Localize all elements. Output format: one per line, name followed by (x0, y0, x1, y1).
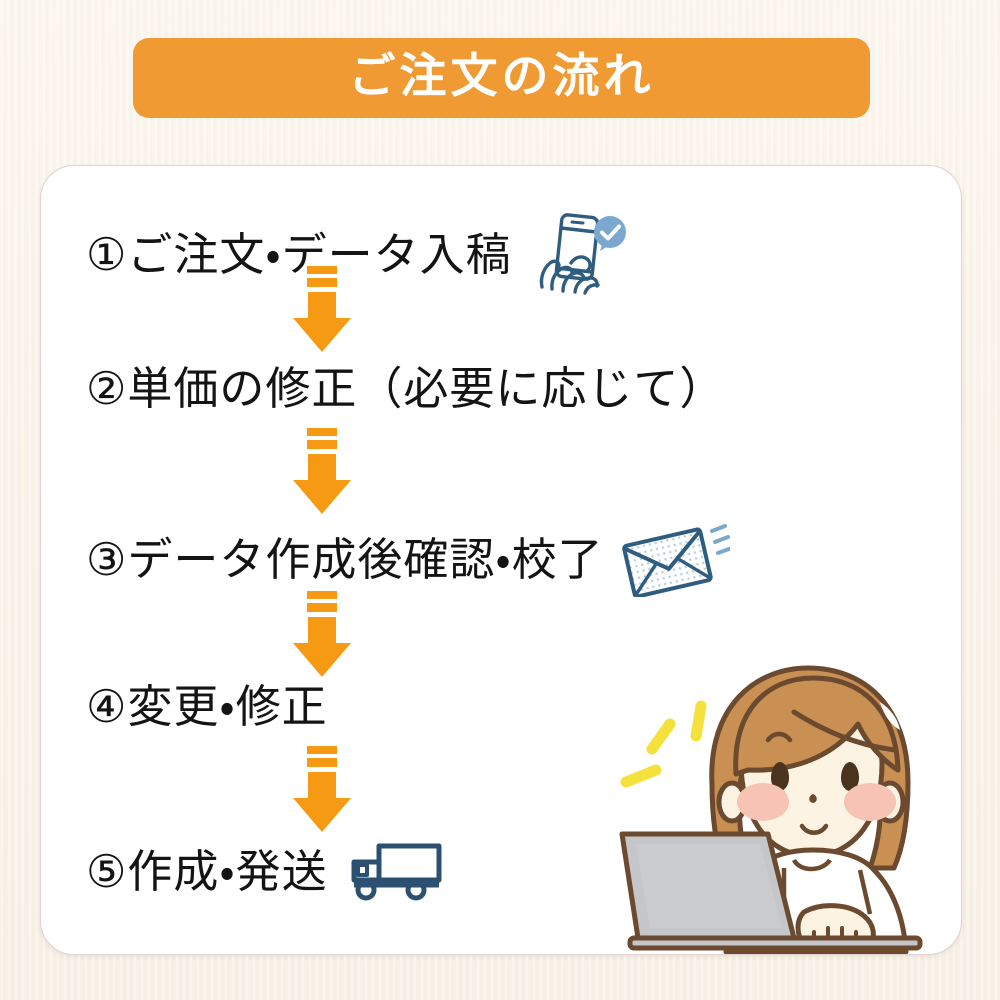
flow-step-3-label: ③データ作成後確認・校了 (86, 537, 604, 582)
delivery-truck-icon (346, 841, 444, 901)
woman-at-laptop-illustration (608, 654, 953, 954)
header-banner: ご注文の流れ (133, 38, 870, 118)
flow-step-4: ④変更・修正 (86, 684, 328, 729)
flow-arrow-3 (286, 591, 358, 679)
flow-card: ①ご注文・データ入稿 (40, 165, 962, 955)
flow-arrow-4 (286, 746, 358, 834)
flow-arrow-2 (286, 428, 358, 516)
flow-step-5-label: ⑤作成・発送 (86, 849, 328, 894)
flow-step-5: ⑤作成・発送 (86, 841, 444, 901)
flow-step-4-label: ④変更・修正 (86, 684, 328, 729)
flow-step-2-label: ②単価の修正（必要に応じて） (86, 366, 725, 411)
flow-arrow-1 (286, 266, 358, 354)
accent-lines (626, 706, 701, 782)
flow-step-3: ③データ作成後確認・校了 (86, 521, 730, 597)
flow-step-2: ②単価の修正（必要に応じて） (86, 366, 725, 411)
hand-holding-phone-check-icon (530, 211, 628, 297)
flying-envelope-icon (622, 521, 730, 597)
page-title: ご注文の流れ (349, 53, 655, 104)
